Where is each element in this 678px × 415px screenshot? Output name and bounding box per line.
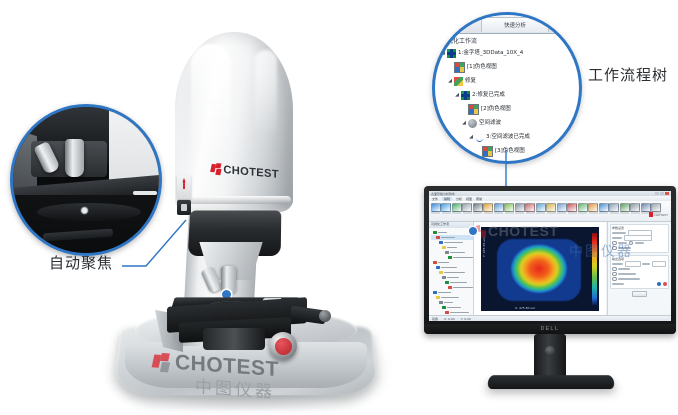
workflow-tree-node[interactable]: [1]伪色视图 <box>439 60 582 74</box>
monitor-stand-neck <box>534 334 566 378</box>
status-item: X: 0.00 <box>444 317 455 321</box>
power-indicator-icon <box>177 175 191 199</box>
monitor-screen[interactable]: 表面形貌分析软件 文件编辑分析视图帮助 CHOTEST 可视化工作流 X, 47… <box>429 191 671 321</box>
window-buttons[interactable] <box>655 192 669 196</box>
tab-separator <box>435 33 579 34</box>
autofocus-label: 自动聚焦 <box>16 252 146 273</box>
objective-lens-primary <box>65 139 84 177</box>
pseudocolor-icon <box>454 62 465 73</box>
collapse-arrow-icon[interactable]: ◢ <box>439 46 447 60</box>
surface-heatmap[interactable]: X, 475.50 um Y, 475.50 um <box>481 227 599 311</box>
grid-icon[interactable] <box>536 203 545 214</box>
ribbon-toolbar[interactable]: CHOTEST <box>429 201 671 222</box>
contour-icon[interactable] <box>578 203 587 214</box>
histogram-icon[interactable] <box>589 203 598 214</box>
stage-micrometer-knob[interactable] <box>319 310 331 322</box>
tree-node-icon <box>448 256 452 260</box>
form-remove-icon[interactable] <box>484 203 493 214</box>
open-icon[interactable] <box>431 203 440 214</box>
menu-item[interactable]: 文件 <box>432 197 438 201</box>
menu-item[interactable]: 编辑 <box>442 197 452 201</box>
export-icon[interactable] <box>452 203 461 214</box>
product-illustration: CHOTEST CHOTEST 中图仪器 <box>0 0 678 415</box>
collapse-arrow-icon[interactable]: ◢ <box>460 116 468 130</box>
stats-icon[interactable] <box>620 203 629 214</box>
tree-node-icon <box>436 266 440 270</box>
tree-node-icon <box>442 306 446 310</box>
focus-spot-highlight <box>81 207 88 214</box>
workflow-tree-node-label: 2:修复已完成 <box>472 88 505 102</box>
monitor-chin: DELL <box>424 324 676 334</box>
filter-icon[interactable] <box>494 203 503 214</box>
workflow-tree[interactable]: ◢1:金字塔_3DData_10X_4[1]伪色视图◢修复◢2:修复已完成[2]… <box>439 46 582 158</box>
confirm-button[interactable] <box>632 291 647 297</box>
stage-edge-highlight <box>133 191 157 195</box>
threshold-icon[interactable] <box>568 203 577 214</box>
tree-node-icon <box>439 271 443 275</box>
workflow-tree-node[interactable]: ◢修复 <box>439 74 582 88</box>
workflow-tree-node-label: [2]伪色视图 <box>481 102 511 116</box>
ribbon-brand-text: CHOTEST <box>654 213 668 217</box>
workflow-tree-node[interactable]: ◢3:空间滤波已完成 <box>439 130 582 144</box>
collapse-arrow-icon[interactable]: ◢ <box>453 88 461 102</box>
workflow-tree-node[interactable]: [2]伪色视图 <box>439 102 582 116</box>
stitch-icon[interactable] <box>557 203 566 214</box>
tree-node-icon <box>439 241 443 245</box>
workflow-tree-node-label: 空间滤波 <box>479 116 501 130</box>
tree-node-icon <box>433 291 437 295</box>
workflow-tree-label: 工作流程树 <box>588 64 668 85</box>
report-icon[interactable] <box>599 203 608 214</box>
mode-button-icon[interactable] <box>177 200 191 215</box>
pseudocolor-icon <box>468 104 479 115</box>
app-title: 表面形貌分析软件 <box>431 192 455 196</box>
tree-node-icon <box>436 236 440 240</box>
dataset-icon <box>447 49 456 58</box>
print-icon[interactable] <box>631 203 640 214</box>
screen-watermark-en: CHOTEST <box>475 223 558 239</box>
compare-icon[interactable] <box>610 203 619 214</box>
tree-node-icon <box>436 296 440 300</box>
chotest-logo-mark <box>153 352 170 372</box>
tree-node-icon <box>442 246 446 250</box>
repair-icon <box>454 77 463 86</box>
head-highlight <box>191 44 231 164</box>
roughness-icon[interactable] <box>505 203 514 214</box>
monitor-vendor-logo: DELL <box>541 326 560 332</box>
head-highlight-secondary <box>255 50 277 140</box>
dataset-icon <box>461 91 470 100</box>
tab-quick-analysis[interactable]: 快速分析 <box>481 17 549 32</box>
volume-icon[interactable] <box>526 203 535 214</box>
heatmap-ylabel: Y, 475.50 um <box>482 237 486 257</box>
workflow-tree-mini[interactable] <box>429 228 473 321</box>
workflow-tree-node[interactable]: ◢1:金字塔_3DData_10X_4 <box>439 46 582 60</box>
workflow-panel-header: 可视化工作流 <box>441 36 477 45</box>
tree-node-icon <box>439 301 443 305</box>
menu-item[interactable]: 分析 <box>456 197 462 201</box>
workflow-tree-panel[interactable]: 可视化工作流 <box>429 222 474 315</box>
status-item: Y: 0.00 <box>461 317 471 321</box>
tree-node-icon <box>448 286 452 290</box>
menu-item[interactable]: 视图 <box>466 197 472 201</box>
heatmap-xlabel: X, 475.50 um <box>515 306 535 310</box>
step-icon[interactable] <box>515 203 524 214</box>
tree-node-icon <box>433 261 437 265</box>
workflow-tree-node[interactable]: ◢空间滤波 <box>439 116 582 130</box>
profile-icon[interactable] <box>473 203 482 214</box>
workflow-tree-node[interactable]: ◢2:修复已完成 <box>439 88 582 102</box>
chotest-logo-mark <box>211 163 222 176</box>
menu-item[interactable]: 帮助 <box>476 197 482 201</box>
status-bar: 就绪X: 0.00Y: 0.00 <box>429 315 671 321</box>
texture-icon[interactable] <box>547 203 556 214</box>
collapse-arrow-icon[interactable]: ◢ <box>467 130 475 144</box>
monitor-stand-base <box>487 375 615 389</box>
filter-icon <box>468 119 477 128</box>
tree-node-icon <box>433 231 437 235</box>
workflow-tree-node-label: 3:空间滤波已完成 <box>486 130 530 144</box>
workflow-callout-anchor-dot <box>469 227 477 235</box>
workflow-tree-node-label: 修复 <box>465 74 476 88</box>
level-icon[interactable] <box>463 203 472 214</box>
tree-node-icon <box>445 311 449 315</box>
waveform-icon <box>475 133 484 142</box>
properties-panel[interactable]: 参数设置 输出选项 <box>607 222 671 315</box>
ribbon-brand-logo: CHOTEST <box>649 212 668 217</box>
workflow-tree-node-label: 1:金字塔_3DData_10X_4 <box>458 46 523 60</box>
dell-monitor: 表面形貌分析软件 文件编辑分析视图帮助 CHOTEST 可视化工作流 X, 47… <box>424 186 676 401</box>
tree-node-icon <box>442 276 446 280</box>
workflow-tree-magnifier-circle: 快速分析 可视化工作流 ◢1:金字塔_3DData_10X_4[1]伪色视图◢修… <box>432 12 582 164</box>
tree-node-icon <box>445 251 449 255</box>
tree-node-icon <box>445 281 449 285</box>
workflow-tree-callout: 快速分析 可视化工作流 ◢1:金字塔_3DData_10X_4[1]伪色视图◢修… <box>432 12 582 164</box>
save-icon[interactable] <box>442 203 451 214</box>
workflow-tree-node-label: [1]伪色视图 <box>467 60 497 74</box>
status-item: 就绪 <box>432 317 438 321</box>
head-seam <box>177 196 291 204</box>
screen-watermark-cn: 中图仪器 <box>569 241 633 261</box>
collapse-arrow-icon[interactable]: ◢ <box>446 74 454 88</box>
